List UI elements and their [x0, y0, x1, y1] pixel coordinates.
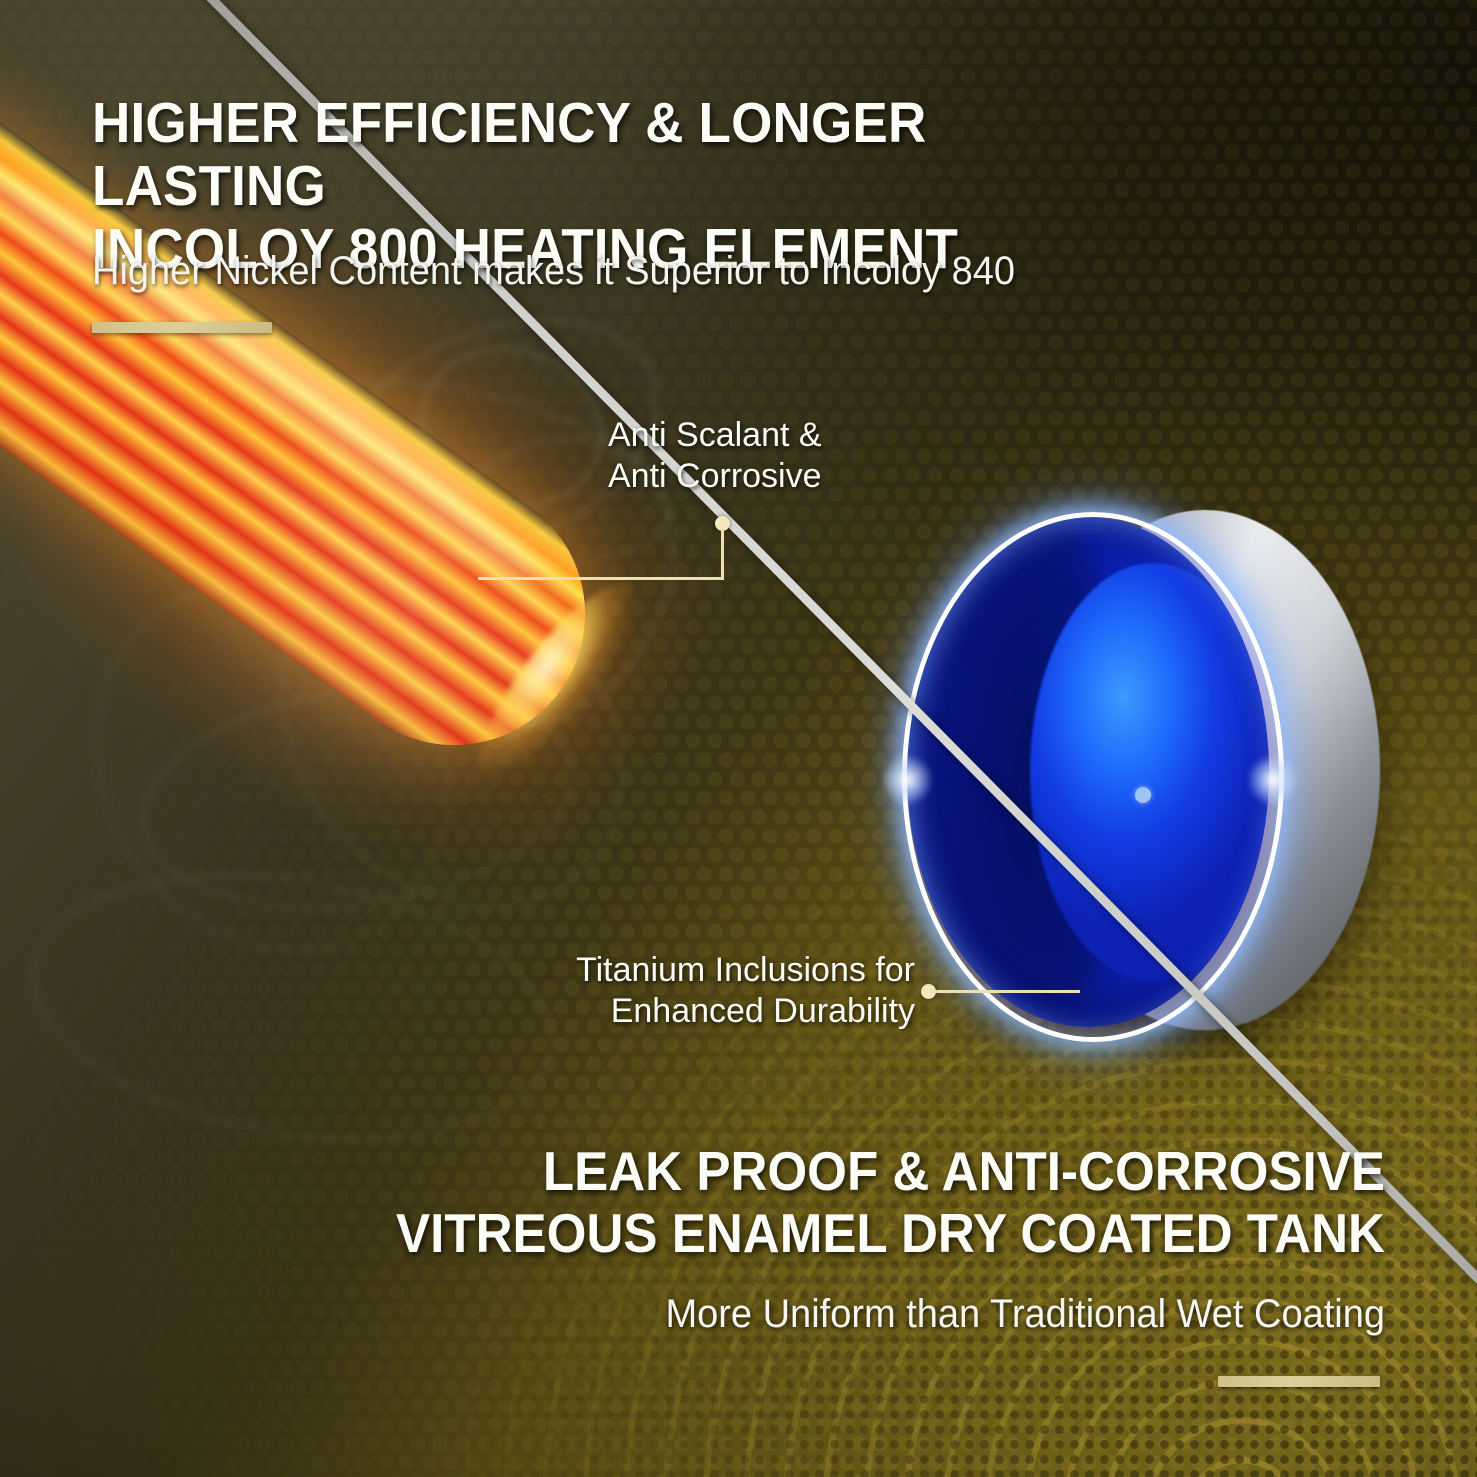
infographic-canvas: HIGHER EFFICIENCY & LONGER LASTING INCOL… [0, 0, 1477, 1477]
vignette-overlay [0, 0, 1477, 1477]
